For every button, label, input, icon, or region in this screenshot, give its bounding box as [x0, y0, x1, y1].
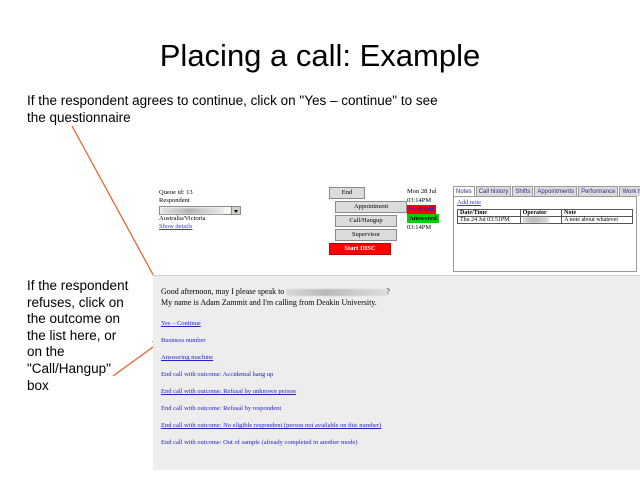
tab-call-history[interactable]: Call history — [476, 186, 512, 196]
tab-work-history[interactable]: Work history — [619, 186, 640, 196]
case-id-label: Queue id: 13 — [159, 189, 254, 197]
status-time-top: 03:14PM — [407, 196, 459, 205]
dialog-redacted-name — [286, 289, 386, 296]
outcome-yes-continue[interactable]: Yes – Continue — [161, 320, 632, 328]
callout-text-top: If the respondent agrees to continue, cl… — [27, 92, 457, 126]
col-datetime: Date/Time — [458, 210, 521, 217]
call-hangup-button[interactable]: Call/Hangup — [335, 215, 397, 227]
dialog-line-1: Good afternoon, may I please speak to ? — [161, 286, 632, 297]
tab-shifts[interactable]: Shifts — [512, 186, 533, 196]
dialog-line-2: My name is Adam Zammit and I'm calling f… — [161, 297, 632, 308]
outcome-out-of-sample[interactable]: End call with outcome: Out of sample (al… — [161, 439, 632, 447]
case-info-panel: Queue id: 13 Respondent Australia/Victor… — [159, 189, 254, 231]
status-date: Mon 28 Jul — [407, 187, 459, 196]
table-row[interactable]: Thu 24 Jul 03:51PM A note about whatever — [458, 217, 633, 224]
chevron-down-icon[interactable] — [231, 207, 240, 214]
outcome-answering-machine[interactable]: Answering machine — [161, 354, 632, 362]
page-title: Placing a call: Example — [0, 38, 640, 74]
outcome-no-eligible-respondent[interactable]: End call with outcome: No eligible respo… — [161, 422, 632, 430]
add-note-link[interactable]: Add note — [457, 199, 633, 207]
voip-status-badge: VoIP Off — [407, 205, 436, 214]
col-operator: Operator — [520, 210, 562, 217]
outcome-accidental-hang-up[interactable]: End call with outcome: Accidental hang u… — [161, 371, 632, 379]
supervisor-button[interactable]: Supervisor — [335, 229, 397, 241]
dialog-line-1-after: ? — [386, 287, 390, 296]
start-disc-button[interactable]: Start DISC — [329, 243, 391, 255]
outcome-refusal-unknown-person[interactable]: End call with outcome: Refusal by unknow… — [161, 388, 632, 396]
outcome-refusal-respondent[interactable]: End call with outcome: Refusal by respon… — [161, 405, 632, 413]
respondent-redacted-value — [161, 208, 223, 214]
tab-notes[interactable]: Notes — [453, 186, 475, 196]
callout-text-left: If the respondent refuses, click on the … — [27, 278, 132, 394]
dialog-line-1-before: Good afternoon, may I please speak to — [161, 287, 286, 296]
embedded-app-screenshot: Queue id: 13 Respondent Australia/Victor… — [153, 183, 640, 470]
cell-datetime: Thu 24 Jul 03:51PM — [458, 217, 521, 224]
status-time-bottom: 03:14PM — [407, 223, 459, 232]
tab-appointments[interactable]: Appointments — [534, 186, 577, 196]
show-details-link[interactable]: Show details — [159, 223, 254, 231]
script-and-outcomes-region: Good afternoon, may I please speak to ? … — [153, 275, 640, 470]
end-button[interactable]: End — [329, 187, 365, 199]
tab-performance[interactable]: Performance — [578, 186, 618, 196]
call-state-badge: Answered — [407, 214, 439, 223]
call-status-panel: Mon 28 Jul 03:14PM VoIP Off Answered 03:… — [407, 187, 459, 232]
cell-note: A note about whatever — [562, 217, 633, 224]
respondent-label: Respondent — [159, 197, 254, 205]
outcome-business-number[interactable]: Business number — [161, 337, 632, 345]
call-control-buttons: End Appointment Call/Hangup Supervisor S… — [329, 187, 401, 257]
app-toolbar-region: Queue id: 13 Respondent Australia/Victor… — [153, 183, 640, 275]
notes-table: Date/Time Operator Note Thu 24 Jul 03:51… — [457, 209, 633, 224]
tab-bar: Notes Call history Shifts Appointments P… — [453, 185, 637, 196]
col-note: Note — [562, 210, 633, 217]
appointment-button[interactable]: Appointment — [335, 201, 407, 213]
timezone-label: Australia/Victoria — [159, 215, 254, 223]
respondent-select[interactable] — [159, 206, 241, 215]
table-header-row: Date/Time Operator Note — [458, 210, 633, 217]
info-tab-panel: Notes Call history Shifts Appointments P… — [453, 185, 637, 273]
cell-operator — [520, 217, 562, 224]
notes-tab-body: Add note Date/Time Operator Note Thu 24 … — [453, 196, 637, 272]
